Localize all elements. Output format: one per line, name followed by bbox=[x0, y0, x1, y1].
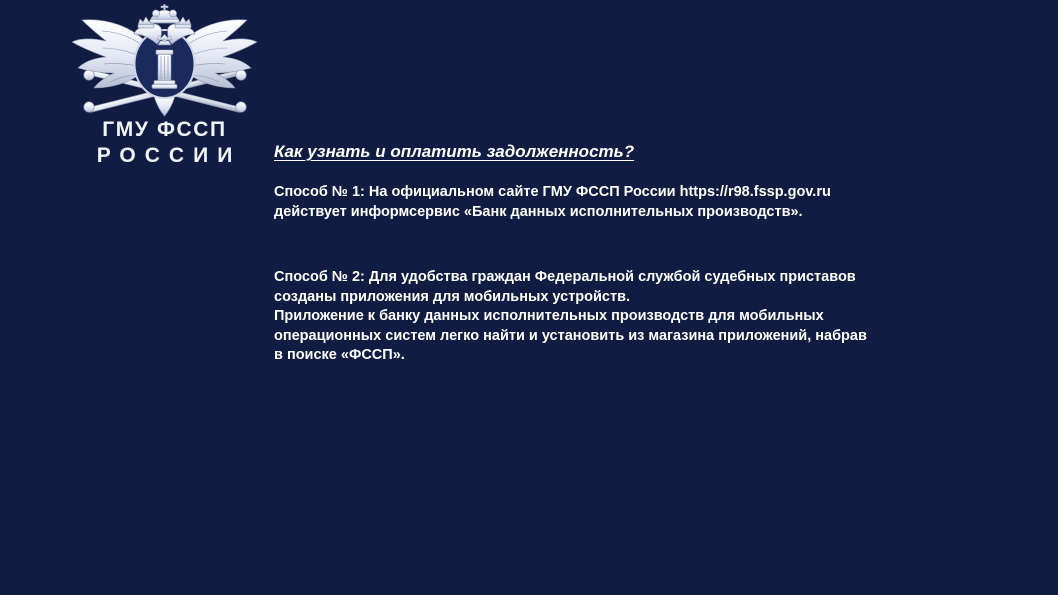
paragraph-method-2-detail-line-3: в поиске «ФССП». bbox=[274, 347, 405, 363]
paragraph-method-2-detail-line-2: операционных систем легко найти и устано… bbox=[274, 328, 867, 344]
paragraph-method-2-detail-line-1: Приложение к банку данных исполнительных… bbox=[274, 308, 824, 324]
slide-content: Как узнать и оплатить задолженность? Спо… bbox=[274, 141, 1004, 366]
emblem-caption-line-2: РОССИИ bbox=[62, 143, 267, 168]
paragraph-method-1-line-1: Способ № 1: На официальном сайте ГМУ ФСС… bbox=[274, 184, 831, 200]
paragraph-method-2-line-1: Способ № 2: Для удобства граждан Федерал… bbox=[274, 269, 856, 285]
presentation-slide: ГМУ ФССП РОССИИ Как узнать и оплатить за… bbox=[0, 0, 1058, 595]
imperial-crown-icon bbox=[150, 5, 179, 24]
paragraph-method-1-line-2: действует информсервис «Банк данных испо… bbox=[274, 204, 803, 220]
paragraph-method-2-line-2: созданы приложения для мобильных устройс… bbox=[274, 289, 630, 305]
paragraph-method-2-detail: Приложение к банку данных исполнительных… bbox=[274, 307, 1004, 366]
fssp-double-headed-eagle-emblem-icon bbox=[62, 4, 267, 122]
emblem-caption-line-1: ГМУ ФССП bbox=[62, 118, 267, 142]
fssp-emblem: ГМУ ФССП РОССИИ bbox=[62, 4, 267, 174]
page-title: Как узнать и оплатить задолженность? bbox=[274, 141, 1004, 163]
paragraph-method-1: Способ № 1: На официальном сайте ГМУ ФСС… bbox=[274, 183, 1004, 222]
emblem-caption: ГМУ ФССП РОССИИ bbox=[62, 118, 267, 168]
paragraph-method-2: Способ № 2: Для удобства граждан Федерал… bbox=[274, 268, 1004, 307]
